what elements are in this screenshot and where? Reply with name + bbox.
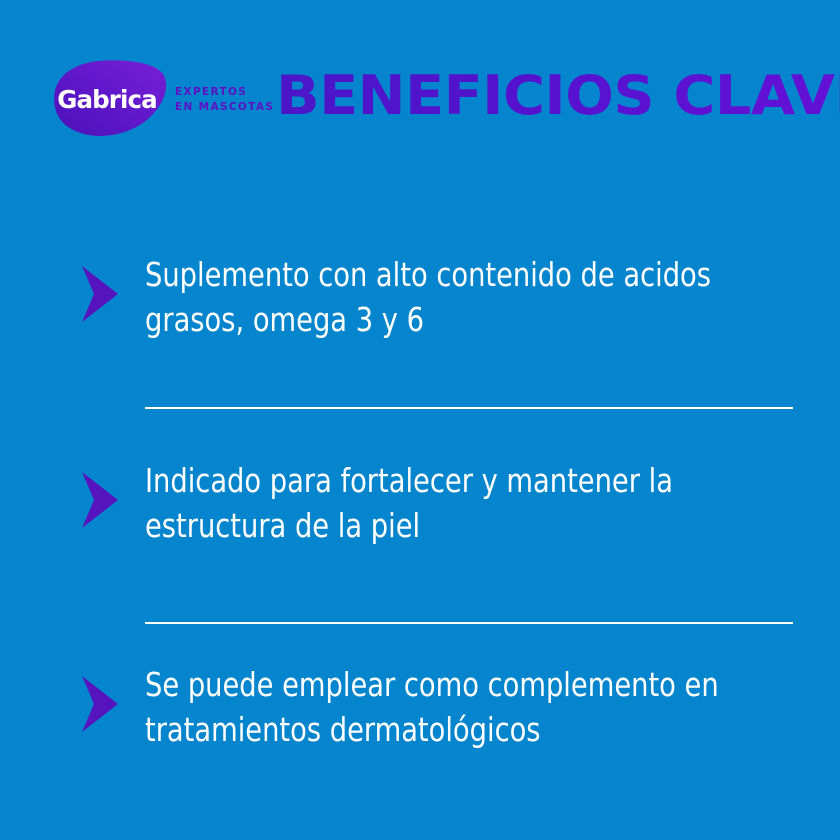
chevron-arrow-icon [80,471,120,529]
poster-header: Gabrica EXPERTOS EN MASCOTAS BENEFICIOS … [0,0,840,170]
tagline-line-2: EN MASCOTAS [175,100,274,115]
tagline-line-1: EXPERTOS [175,85,274,100]
benefit-text: Indicado para fortalecer y mantener la e… [145,458,784,548]
benefit-bullet-container [0,662,145,782]
benefit-bullet-container [0,458,145,578]
benefit-item: Suplemento con alto contenido de acidos … [0,252,840,372]
brand-tagline: EXPERTOS EN MASCOTAS [175,85,274,115]
benefit-item: Se puede emplear como complemento en tra… [0,662,840,782]
benefit-divider [145,622,793,624]
benefits-list: Suplemento con alto contenido de acidos … [0,170,840,840]
benefit-item: Indicado para fortalecer y mantener la e… [0,458,840,578]
benefit-divider [145,407,793,409]
poster-canvas: Gabrica EXPERTOS EN MASCOTAS BENEFICIOS … [0,0,840,840]
chevron-arrow-icon [80,265,120,323]
gabrica-logo-blob-icon [44,58,170,138]
page-title: BENEFICIOS CLAVE [276,64,840,126]
benefit-bullet-container [0,252,145,372]
benefit-text: Se puede emplear como complemento en tra… [145,662,784,752]
chevron-arrow-icon [80,675,120,733]
benefit-text: Suplemento con alto contenido de acidos … [145,252,784,342]
brand-lockup: Gabrica EXPERTOS EN MASCOTAS [44,58,264,142]
